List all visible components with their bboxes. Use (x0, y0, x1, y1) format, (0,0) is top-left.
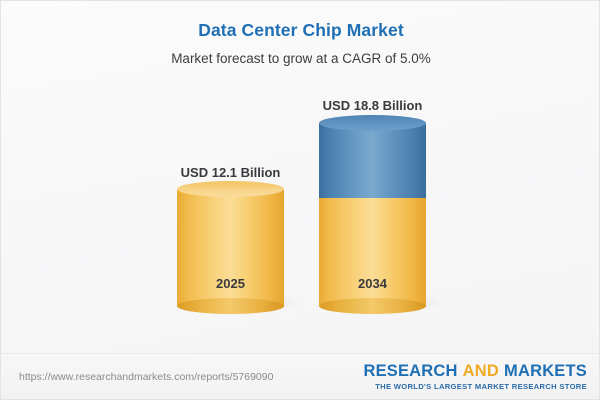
brand-word-research: RESEARCH (363, 362, 457, 380)
cylinder-bottom-cap (177, 298, 284, 314)
bar-value-label-2034: USD 18.8 Billion (323, 98, 423, 114)
brand-word-markets: MARKETS (504, 362, 587, 380)
bar-value-label-2025: USD 12.1 Billion (181, 165, 281, 181)
cylinder-bottom-cap (319, 298, 426, 314)
brand-logo[interactable]: RESEARCHANDMARKETS THE WORLD'S LARGEST M… (363, 362, 587, 392)
chart-plot-area: USD 12.1 Billion 2025 USD 18.8 Billion (1, 1, 600, 353)
market-infographic: Data Center Chip Market Market forecast … (0, 0, 600, 400)
footer-bar: https://www.researchandmarkets.com/repor… (1, 353, 600, 399)
brand-word-and: AND (463, 362, 499, 380)
brand-tagline: THE WORLD'S LARGEST MARKET RESEARCH STOR… (363, 382, 587, 392)
brand-name: RESEARCHANDMARKETS (363, 362, 587, 381)
segment-top-cap (319, 115, 426, 131)
bar-segment-growth-2034 (319, 123, 426, 198)
x-axis-label-2034: 2034 (358, 276, 387, 292)
source-url-link[interactable]: https://www.researchandmarkets.com/repor… (19, 370, 273, 384)
segment-body (319, 123, 426, 198)
x-axis-label-2025: 2025 (216, 276, 245, 292)
segment-top-cap (177, 181, 284, 197)
